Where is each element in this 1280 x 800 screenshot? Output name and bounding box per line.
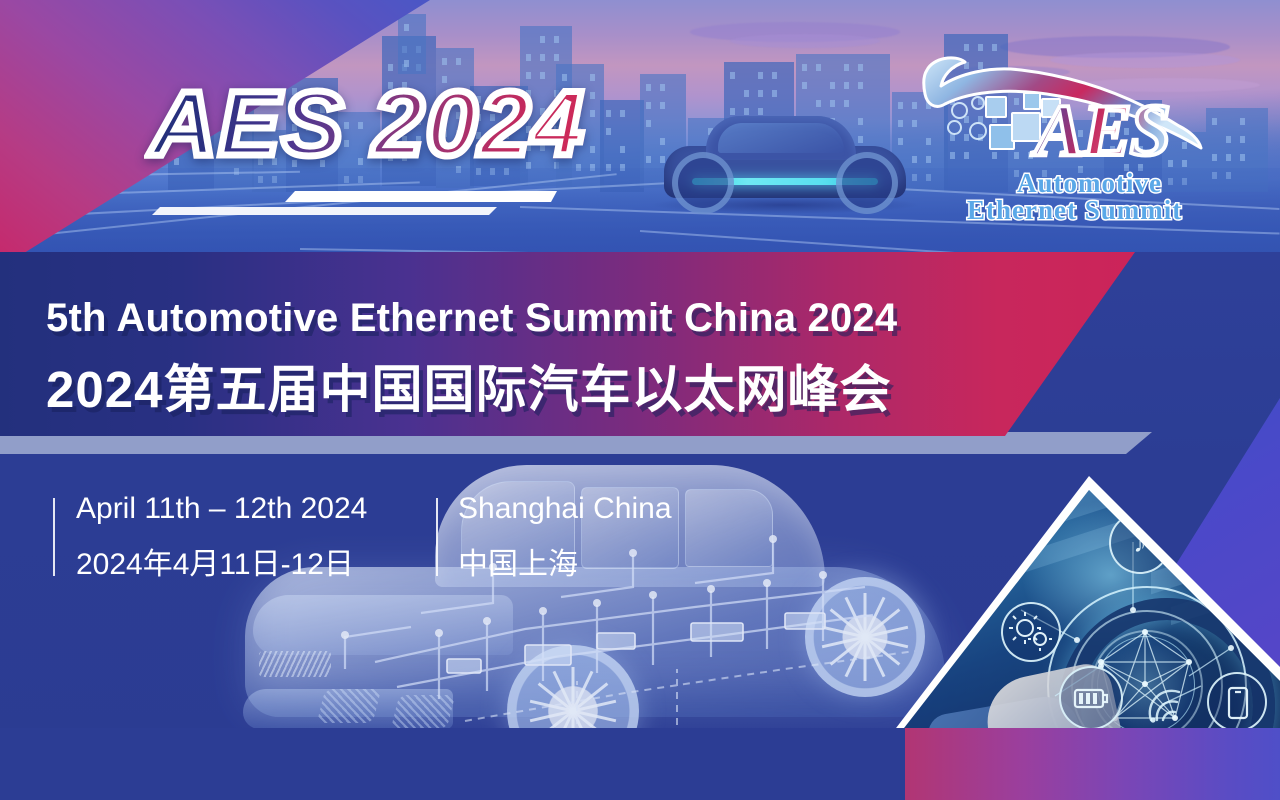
building-window — [1240, 154, 1245, 161]
aes-logo: AES Automotive Ethernet Summit — [905, 48, 1205, 226]
event-city-english: Shanghai China — [458, 492, 672, 526]
building-window — [844, 100, 849, 107]
building-window — [830, 82, 835, 89]
summit-title-chinese: 2024第五届中国国际汽车以太网峰会 — [46, 348, 891, 422]
building-window — [844, 64, 849, 71]
building-window — [772, 90, 777, 97]
building-window — [540, 54, 545, 61]
skyline-building — [398, 14, 426, 74]
hud-smartphone-icon — [1207, 672, 1267, 732]
building-window — [744, 90, 749, 97]
building-window — [442, 58, 447, 65]
logo-aes-wordmark: AES — [1035, 94, 1169, 168]
packet-dot-icon — [969, 122, 987, 140]
cloud-shape — [730, 34, 880, 48]
building-window — [858, 64, 863, 71]
building-window — [1212, 118, 1217, 125]
building-window — [1240, 118, 1245, 125]
building-window — [606, 128, 611, 135]
packet-dot-icon — [947, 120, 962, 135]
building-window — [590, 146, 595, 153]
headline-underline-lower — [152, 207, 497, 215]
hud-wifi-icon — [1145, 682, 1201, 726]
building-window — [816, 100, 821, 107]
event-date-chinese: 2024年4月11日-12日 — [76, 539, 367, 583]
building-window — [620, 146, 625, 153]
building-window — [606, 110, 611, 117]
building-window — [844, 82, 849, 89]
building-window — [730, 72, 735, 79]
car-windshield — [718, 123, 844, 153]
building-window — [456, 58, 461, 65]
packet-dot-icon — [951, 102, 968, 119]
event-location-block: Shanghai China 中国上海 — [458, 492, 672, 583]
packet-dot-icon — [971, 96, 985, 110]
aes-2024-conference-banner: AES 2024 AES Auto — [0, 0, 1280, 800]
event-date-english: April 11th – 12th 2024 — [76, 492, 367, 526]
summit-title-english: 5th Automotive Ethernet Summit China 202… — [46, 296, 897, 341]
building-window — [1226, 136, 1231, 143]
meta-divider — [53, 498, 55, 576]
event-date-block: April 11th – 12th 2024 2024年4月11日-12日 — [76, 492, 367, 583]
building-window — [620, 110, 625, 117]
hud-gear-icon — [1001, 602, 1061, 662]
building-window — [660, 84, 665, 91]
packet-square-icon — [985, 96, 1007, 118]
skyline-concept-car — [650, 108, 920, 218]
building-window — [758, 72, 763, 79]
building-window — [802, 82, 807, 89]
page-title-aes-2024: AES 2024 — [150, 78, 585, 170]
building-window — [858, 82, 863, 89]
building-window — [772, 72, 777, 79]
car-wheel — [672, 152, 734, 214]
headline-underline-upper — [285, 191, 557, 202]
car-wheel — [836, 152, 898, 214]
building-window — [1240, 136, 1245, 143]
hud-battery-icon — [1059, 666, 1123, 730]
building-window — [590, 92, 595, 99]
building-window — [388, 64, 393, 71]
building-window — [646, 84, 651, 91]
building-window — [540, 36, 545, 43]
building-window — [526, 54, 531, 61]
building-window — [590, 110, 595, 117]
meta-divider — [436, 498, 438, 576]
building-window — [802, 64, 807, 71]
building-window — [554, 36, 559, 43]
building-window — [816, 64, 821, 71]
building-window — [830, 100, 835, 107]
building-window — [404, 24, 409, 31]
building-window — [1226, 154, 1231, 161]
logo-subtitle-line-2: Ethernet Summit — [967, 195, 1182, 226]
bottom-navy-bar — [0, 728, 905, 800]
building-window — [404, 60, 409, 67]
building-window — [590, 74, 595, 81]
building-window — [1212, 154, 1217, 161]
building-window — [554, 54, 559, 61]
event-city-chinese: 中国上海 — [458, 539, 672, 583]
building-window — [758, 90, 763, 97]
